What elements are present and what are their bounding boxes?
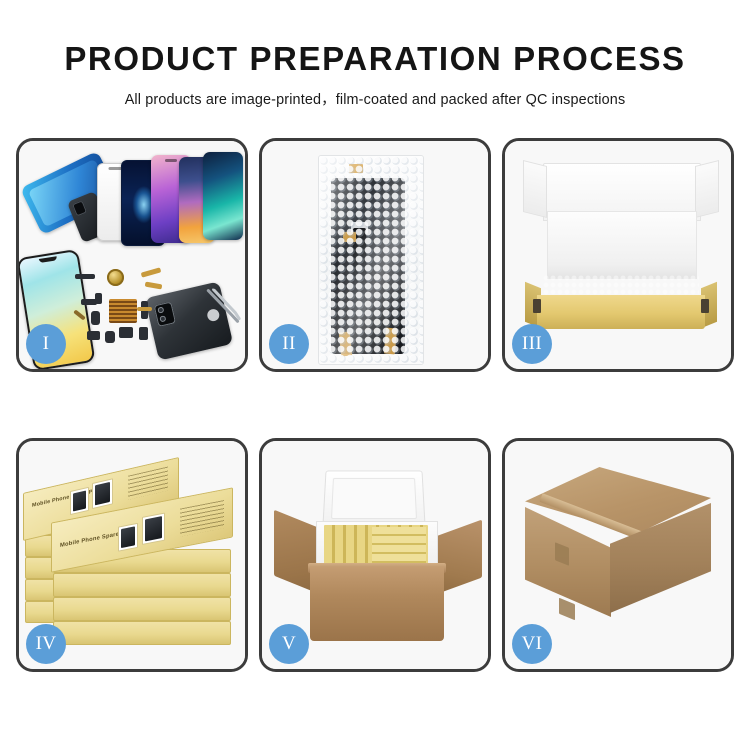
small-part-chip	[139, 327, 148, 340]
box-window-thumbnail	[92, 478, 113, 509]
step-badge-6: VI	[512, 624, 552, 664]
open-kraft-box	[521, 161, 721, 351]
connector-grid-part	[109, 299, 137, 323]
box-front-panel	[537, 295, 705, 329]
box-window-thumbnail	[70, 487, 89, 515]
step-badge-4: IV	[26, 624, 66, 664]
box-window-thumbnail	[118, 523, 138, 552]
retail-box	[53, 621, 231, 645]
process-step-panel-4: Mobile Phone Spare Parts Mobile Phone Sp…	[16, 438, 248, 672]
bubble-wrap-bag	[318, 155, 424, 365]
small-part-chip	[87, 331, 100, 340]
foam-lid	[322, 471, 425, 528]
small-part-chip	[105, 331, 115, 343]
small-part-chip	[119, 327, 133, 338]
adhesive-tape-piece	[349, 164, 363, 173]
flex-cable-part	[145, 282, 163, 290]
small-part-chip	[91, 311, 100, 325]
adhesive-tape-piece	[384, 328, 397, 355]
flex-cable-part	[137, 307, 152, 311]
page-title: PRODUCT PREPARATION PROCESS	[0, 0, 750, 77]
process-step-panel-5: V Retail boxes loaded into a foam-lined …	[259, 438, 491, 672]
adhesive-tape-piece	[343, 232, 356, 242]
flex-cable-part	[141, 267, 162, 277]
process-step-panel-6: VI Sealed outer shipping carton ready fo…	[502, 438, 734, 672]
adhesive-tape-piece	[339, 331, 352, 356]
small-part-chip	[75, 274, 95, 279]
white-foam-sheet	[547, 211, 697, 279]
step-badge-5: V	[269, 624, 309, 664]
process-step-panel-1: I Phone LCD screens, display assemblies …	[16, 138, 248, 372]
page-header: PRODUCT PREPARATION PROCESS All products…	[0, 0, 750, 109]
process-step-panel-3: III Bubble-wrapped item placed in kraft …	[502, 138, 734, 372]
sealed-shipping-carton	[519, 467, 719, 647]
step-badge-1: I	[26, 324, 66, 364]
step-badge-2: II	[269, 324, 309, 364]
process-steps-grid: I Phone LCD screens, display assemblies …	[16, 138, 734, 672]
speaker-coil-part	[107, 269, 124, 286]
process-step-panel-2: II Individual LCD screen sealed in bubbl…	[259, 138, 491, 372]
box-lid-flap-right	[695, 160, 719, 218]
step-badge-3: III	[512, 324, 552, 364]
box-lid-flap-left	[523, 160, 547, 218]
carton-tape-lower	[559, 598, 575, 620]
retail-box	[53, 597, 231, 621]
phone-screen-teal-wave	[203, 152, 243, 240]
box-tab-left	[533, 299, 541, 313]
carton-front-panel	[310, 567, 444, 641]
box-window-thumbnail	[142, 513, 165, 545]
retail-box	[53, 573, 231, 597]
page-subtitle: All products are image-printed，film-coat…	[0, 77, 750, 109]
box-tab-right	[701, 299, 709, 313]
small-part-chip	[95, 293, 102, 304]
